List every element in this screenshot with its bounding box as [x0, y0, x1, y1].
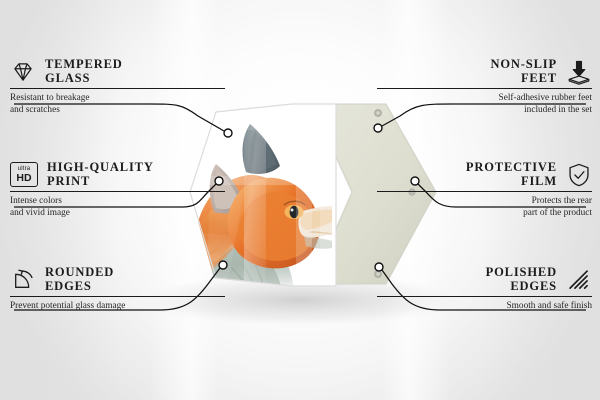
feature-description: Intense colors and vivid image — [10, 196, 225, 218]
feature-high-quality-print[interactable]: ultra HD HIGH-QUALITY PRINT Intense colo… — [10, 161, 225, 219]
feature-rule — [10, 88, 225, 89]
feature-title: NON-SLIP FEET — [490, 58, 557, 85]
infographic-canvas: TEMPERED GLASS Resistant to breakage and… — [0, 0, 600, 400]
feature-header: PROTECTIVE FILM — [377, 161, 592, 188]
feature-description: Prevent potential glass damage — [10, 301, 225, 312]
feature-rule — [10, 296, 225, 297]
feature-title: HIGH-QUALITY PRINT — [47, 161, 154, 188]
feature-description: Self-adhesive rubber feet included in th… — [377, 93, 592, 115]
feature-title: TEMPERED GLASS — [45, 58, 123, 85]
ultra-hd-icon: ultra HD — [10, 162, 38, 187]
diamond-icon — [10, 59, 36, 85]
feature-rule — [377, 296, 592, 297]
press-pad-icon — [566, 59, 592, 85]
feature-rule — [377, 88, 592, 89]
feature-header: NON-SLIP FEET — [377, 58, 592, 85]
feature-protective-film[interactable]: PROTECTIVE FILM Protects the rear part o… — [377, 161, 592, 219]
feature-description: Smooth and safe finish — [377, 301, 592, 312]
feature-non-slip-feet[interactable]: NON-SLIP FEET Self-adhesive rubber feet … — [377, 58, 592, 116]
feature-description: Resistant to breakage and scratches — [10, 93, 225, 115]
feature-header: ROUNDED EDGES — [10, 266, 225, 293]
feature-header: POLISHED EDGES — [377, 266, 592, 293]
feature-header: ultra HD HIGH-QUALITY PRINT — [10, 161, 225, 188]
feature-rule — [377, 191, 592, 192]
rounded-corner-icon — [10, 267, 36, 293]
feature-tempered-glass[interactable]: TEMPERED GLASS Resistant to breakage and… — [10, 58, 225, 116]
feature-description: Protects the rear part of the product — [377, 196, 592, 218]
shield-check-icon — [566, 162, 592, 188]
feature-header: TEMPERED GLASS — [10, 58, 225, 85]
feature-rule — [10, 191, 225, 192]
feature-title: ROUNDED EDGES — [45, 266, 114, 293]
feature-title: PROTECTIVE FILM — [466, 161, 557, 188]
feature-title: POLISHED EDGES — [486, 266, 557, 293]
diagonal-lines-icon — [566, 267, 592, 293]
feature-polished-edges[interactable]: POLISHED EDGES Smooth and safe finish — [377, 266, 592, 313]
feature-rounded-edges[interactable]: ROUNDED EDGES Prevent potential glass da… — [10, 266, 225, 313]
